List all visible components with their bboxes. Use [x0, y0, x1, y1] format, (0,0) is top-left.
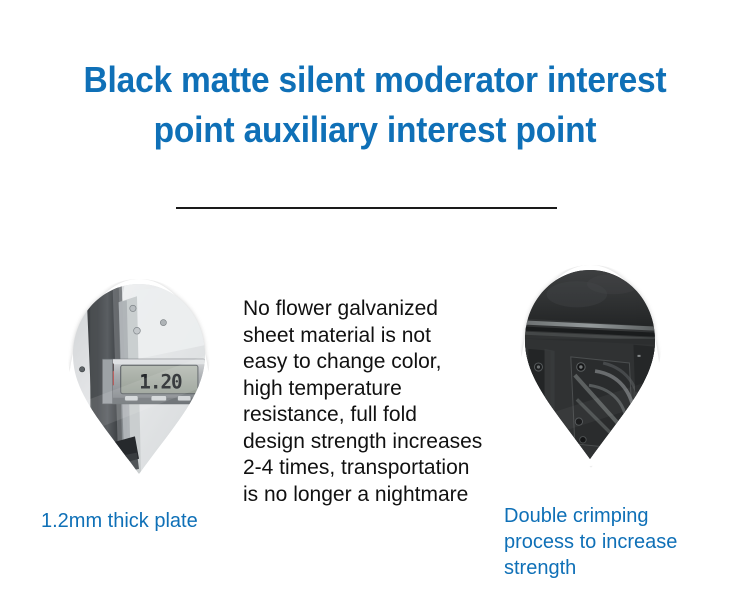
title-divider	[176, 207, 557, 209]
page-title-line-2: point auxiliary interest point	[26, 105, 724, 155]
page-title: Black matte silent moderator interest po…	[0, 55, 750, 155]
feature-image-thickness: 1.20	[68, 279, 210, 482]
caliper-photo: 1.20	[73, 284, 205, 477]
feature-image-crimping-clip	[525, 270, 655, 461]
page-title-line-1: Black matte silent moderator interest	[26, 55, 724, 105]
feature-image-thickness-clip: 1.20	[73, 284, 205, 477]
feature-description: No flower galvanized sheet material is n…	[243, 296, 528, 508]
caption-thickness: 1.2mm thick plate	[41, 508, 198, 534]
feature-image-crimping	[520, 265, 660, 466]
caption-crimping: Double crimping process to increase stre…	[504, 503, 704, 581]
bracket-photo	[525, 270, 655, 461]
